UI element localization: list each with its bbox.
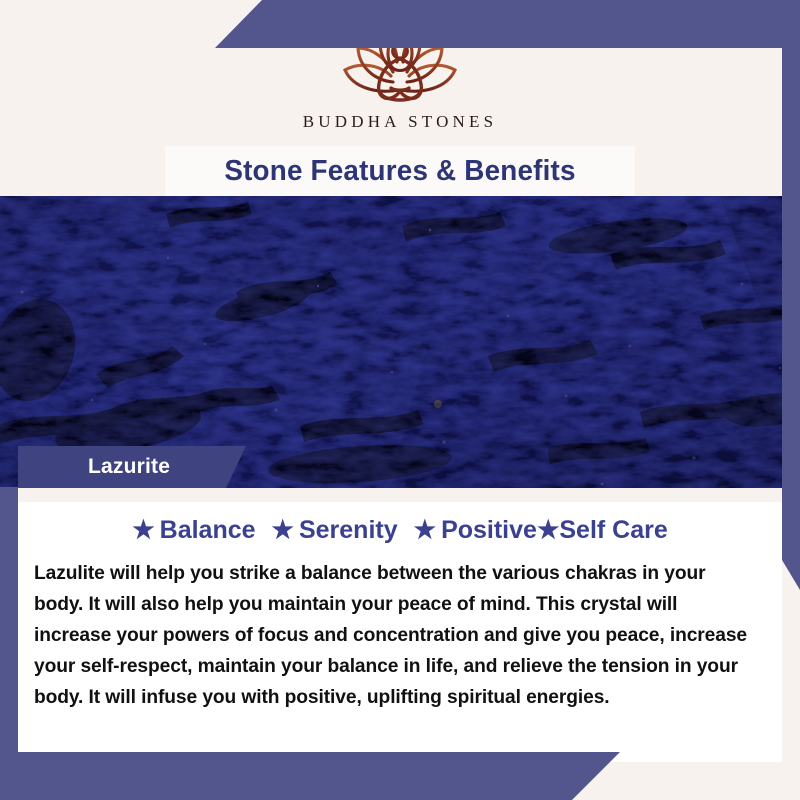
right-edge-accent-strip	[782, 0, 800, 590]
star-icon: ★	[132, 518, 154, 543]
page-title: Stone Features & Benefits	[224, 155, 575, 188]
keyword-item-balance: ★ Balance	[132, 516, 255, 545]
keyword-list: ★ Balance ★ Serenity ★ Positive ★ Self C…	[18, 516, 782, 545]
star-icon: ★	[414, 518, 436, 543]
bottom-left-accent-shape	[0, 752, 620, 800]
stone-name-tag: Lazurite	[18, 446, 246, 488]
star-icon: ★	[537, 518, 559, 543]
left-edge-accent-strip	[0, 487, 18, 800]
panel-top-divider	[18, 488, 782, 502]
stone-name: Lazurite	[88, 455, 170, 479]
top-right-accent-shape	[215, 0, 800, 48]
title-banner: Stone Features & Benefits	[165, 146, 635, 196]
keyword-item-self-care: ★ Self Care	[537, 516, 668, 545]
keyword-item-positive: ★ Positive	[414, 516, 537, 545]
keyword-label: Balance	[160, 516, 256, 545]
brand-name: BUDDHA STONES	[303, 112, 498, 132]
lazurite-rock-photo	[0, 196, 800, 488]
star-icon: ★	[272, 518, 294, 543]
keyword-label: Self Care	[559, 516, 667, 545]
content-panel: ★ Balance ★ Serenity ★ Positive ★ Self C…	[18, 488, 782, 762]
stone-description: Lazulite will help you strike a balance …	[34, 558, 749, 713]
stone-info-poster: BUDDHA STONES Stone Features & Benefits	[0, 0, 800, 800]
keyword-label: Serenity	[299, 516, 398, 545]
keyword-item-serenity: ★ Serenity	[272, 516, 398, 545]
keyword-label: Positive	[441, 516, 537, 545]
